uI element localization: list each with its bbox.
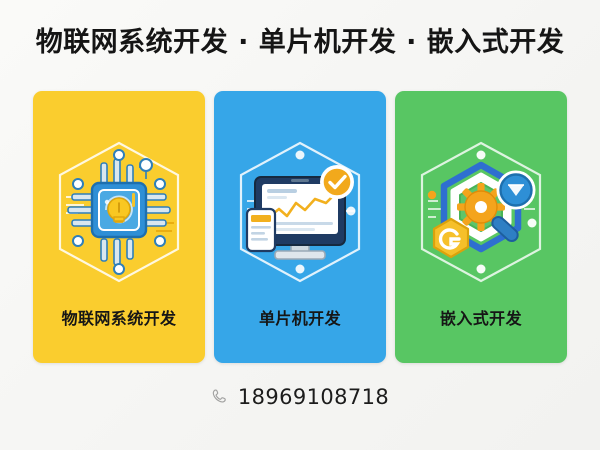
page-title: 物联网系统开发 · 单片机开发 · 嵌入式开发 — [0, 26, 600, 60]
service-card-embedded[interactable]: 嵌入式开发 — [395, 91, 567, 363]
service-card-list: 物联网系统开发 — [33, 91, 567, 363]
service-card-iot[interactable]: 物联网系统开发 — [33, 91, 205, 363]
service-card-mcu-label: 单片机开发 — [214, 305, 386, 329]
hexagon-gear-magnifier-icon — [406, 137, 556, 287]
page-title-text: 物联网系统开发 · 单片机开发 · 嵌入式开发 — [0, 26, 600, 60]
desktop-monitor-chart-check-icon — [225, 137, 375, 287]
service-card-mcu[interactable]: 单片机开发 — [214, 91, 386, 363]
contact-phone-number[interactable]: 18969108718 — [238, 386, 389, 408]
service-card-embedded-label: 嵌入式开发 — [395, 305, 567, 329]
phone-handset-icon — [211, 388, 229, 406]
poster-root: 物联网系统开发 · 单片机开发 · 嵌入式开发 — [0, 0, 600, 450]
contact-row: 18969108718 — [0, 386, 600, 408]
iot-chip-lightbulb-icon — [44, 137, 194, 287]
service-card-iot-label: 物联网系统开发 — [33, 305, 205, 329]
